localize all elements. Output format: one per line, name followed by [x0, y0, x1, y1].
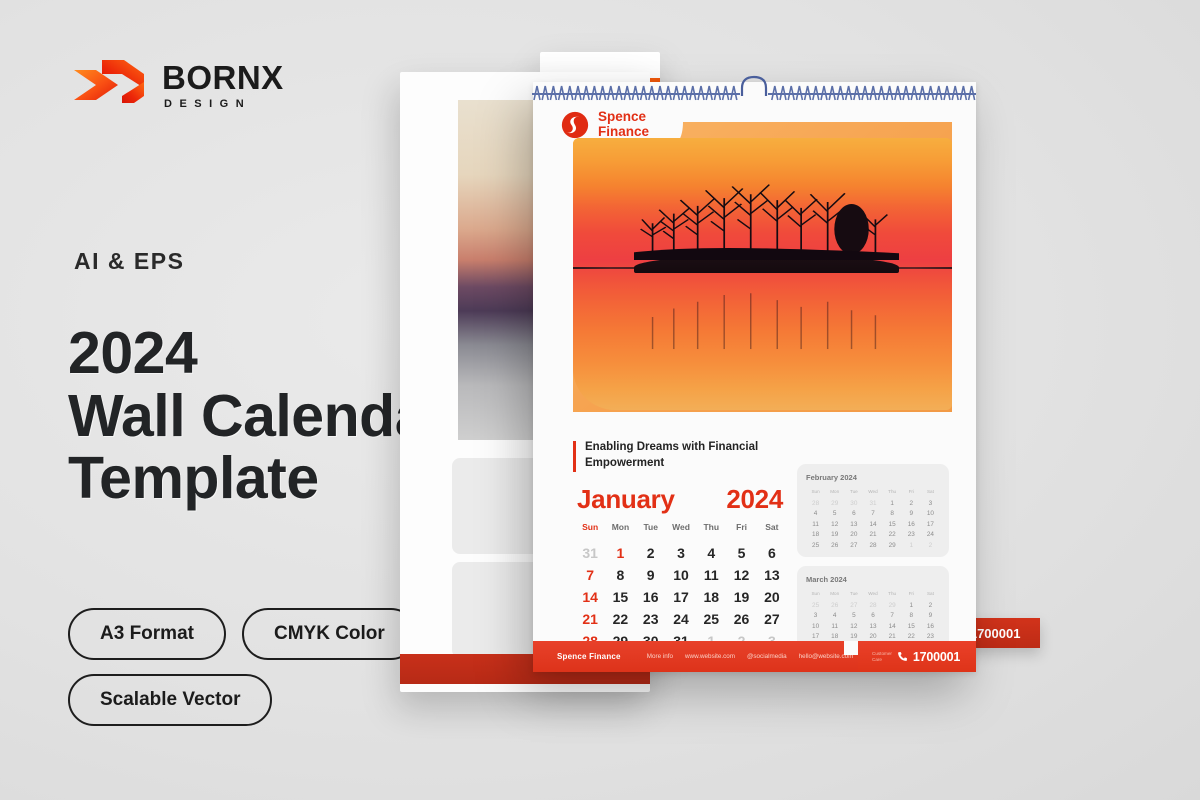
- mini-calendar-day: 4: [825, 612, 844, 619]
- mini-calendar-day: 4: [806, 510, 825, 517]
- mini-calendar-day: 2: [921, 602, 940, 609]
- mini-calendar-day: 20: [844, 531, 863, 538]
- mini-calendar-day: 21: [883, 633, 902, 640]
- mini-calendar-day: 31: [863, 500, 882, 507]
- calendar-day[interactable]: 25: [696, 611, 726, 627]
- mini-calendar-day: 23: [921, 633, 940, 640]
- calendar-day[interactable]: 2: [636, 545, 666, 561]
- phone-icon: [897, 651, 908, 662]
- mini-calendar-day: 23: [902, 531, 921, 538]
- headline-line-3: Template: [68, 447, 449, 510]
- mini-weekday-header: Thu: [883, 591, 902, 598]
- calendar-day[interactable]: 11: [696, 567, 726, 583]
- mini-calendar-day: 7: [863, 510, 882, 517]
- mini-calendar-day: 27: [844, 602, 863, 609]
- spence-logo-line-2: Finance: [598, 125, 649, 140]
- calendar-header-area: Spence Finance: [533, 82, 976, 430]
- mini-calendar-day: 1: [902, 542, 921, 549]
- mini-calendar-day: 28: [806, 500, 825, 507]
- mini-weekday-header: Wed: [863, 591, 882, 598]
- mini-calendar-day: 11: [806, 521, 825, 528]
- calendar-day[interactable]: 16: [636, 589, 666, 605]
- calendar-day[interactable]: 22: [605, 611, 635, 627]
- mini-calendar-day: 10: [921, 510, 940, 517]
- brand-subtitle: DESIGN: [162, 99, 284, 110]
- month-name: January: [577, 484, 675, 515]
- mini-calendar-day: 14: [883, 623, 902, 630]
- footer-phone-number: 1700001: [913, 650, 960, 664]
- calendar-day[interactable]: 26: [726, 611, 756, 627]
- calendar-day[interactable]: 9: [636, 567, 666, 583]
- footer-customer-care: Customer Care 1700001: [858, 641, 976, 672]
- calendar-day[interactable]: 8: [605, 567, 635, 583]
- mini-calendar-day: 13: [863, 623, 882, 630]
- mini-calendar-day: 26: [825, 542, 844, 549]
- mini-calendar-day: 9: [902, 510, 921, 517]
- footer-more-info[interactable]: More info: [647, 653, 673, 660]
- mini-weekday-header: Tue: [844, 489, 863, 496]
- calendar-day[interactable]: 23: [636, 611, 666, 627]
- spence-circle-logo: [561, 111, 589, 139]
- mini-calendar-day: 9: [921, 612, 940, 619]
- mini-grid-february: SunMonTueWedThuFriSat2829303112345678910…: [806, 489, 940, 549]
- calendar-day[interactable]: 31: [575, 545, 605, 561]
- mini-calendar-day: 6: [863, 612, 882, 619]
- mini-calendar-day: 15: [902, 623, 921, 630]
- mini-title-february: February 2024: [806, 473, 940, 482]
- tagline-text: Enabling Dreams with Financial Empowerme…: [585, 440, 775, 471]
- calendar-day[interactable]: 19: [726, 589, 756, 605]
- badge-scalable-vector[interactable]: Scalable Vector: [68, 674, 272, 726]
- calendar-day[interactable]: 12: [726, 567, 756, 583]
- mini-calendar-day: 7: [883, 612, 902, 619]
- headline-line-2: Wall Calendar: [68, 385, 449, 448]
- calendar-day[interactable]: 27: [757, 611, 787, 627]
- mini-calendar-day: 30: [844, 500, 863, 507]
- weekday-header-sun: Sun: [575, 522, 605, 539]
- mini-calendar-day: 8: [902, 612, 921, 619]
- mini-calendar-day: 16: [902, 521, 921, 528]
- mini-calendar-day: 3: [921, 500, 940, 507]
- mini-calendar-day: 18: [825, 633, 844, 640]
- mini-calendar-day: 22: [883, 531, 902, 538]
- mini-weekday-header: Sat: [921, 489, 940, 496]
- footer-social[interactable]: @socialmedia: [747, 653, 787, 660]
- weekday-header-sat: Sat: [757, 522, 787, 539]
- secondary-footer-phone: 1700001: [970, 626, 1021, 641]
- mini-calendar-day: 25: [806, 602, 825, 609]
- weekday-header-thu: Thu: [696, 522, 726, 539]
- mini-calendar-day: 16: [921, 623, 940, 630]
- mini-title-march: March 2024: [806, 575, 940, 584]
- mini-weekday-header: Mon: [825, 591, 844, 598]
- calendar-day[interactable]: 5: [726, 545, 756, 561]
- tagline-block: Enabling Dreams with Financial Empowerme…: [573, 440, 775, 472]
- calendar-day[interactable]: 4: [696, 545, 726, 561]
- calendar-day[interactable]: 20: [757, 589, 787, 605]
- mini-calendar-day: 5: [825, 510, 844, 517]
- mini-calendar-day: 12: [844, 623, 863, 630]
- mini-calendar-day: 18: [806, 531, 825, 538]
- mini-calendar-day: 6: [844, 510, 863, 517]
- mini-calendar-day: 1: [883, 500, 902, 507]
- sunset-lake-photo: [573, 138, 952, 410]
- mini-calendar-day: 24: [921, 531, 940, 538]
- page-title: 2024 Wall Calendar Template: [68, 322, 449, 510]
- tagline-accent-bar: [573, 441, 576, 472]
- mini-calendar-day: 19: [825, 531, 844, 538]
- mini-calendar-day: 29: [883, 602, 902, 609]
- mini-calendar-day: 10: [806, 623, 825, 630]
- format-eyebrow: AI & EPS: [74, 248, 184, 275]
- photo-reflection: [634, 273, 899, 349]
- calendar-day[interactable]: 6: [757, 545, 787, 561]
- footer-brand: Spence Finance: [557, 652, 621, 661]
- weekday-header-tue: Tue: [636, 522, 666, 539]
- mini-calendar-day: 29: [825, 500, 844, 507]
- january-calendar-grid[interactable]: SunMonTueWedThuFriSat3112345678910111213…: [575, 522, 787, 649]
- mini-calendar-day: 17: [921, 521, 940, 528]
- mini-calendar-day: 29: [883, 542, 902, 549]
- mini-calendar-day: 22: [902, 633, 921, 640]
- mini-calendar-day: 3: [806, 612, 825, 619]
- calendar-day[interactable]: 17: [666, 589, 696, 605]
- mini-calendar-day: 26: [825, 602, 844, 609]
- mini-calendar-day: 15: [883, 521, 902, 528]
- calendar-day[interactable]: 14: [575, 589, 605, 605]
- spence-finance-logo: Spence Finance: [561, 110, 649, 139]
- calendar-day[interactable]: 3: [666, 545, 696, 561]
- calendar-footer-bar: Spence Finance More info www.website.com…: [533, 641, 976, 672]
- mini-weekday-header: Sun: [806, 489, 825, 496]
- mini-calendar-day: 11: [825, 623, 844, 630]
- mini-weekday-header: Fri: [902, 591, 921, 598]
- photo-tree-silhouettes: [634, 173, 899, 260]
- calendar-page-front[interactable]: Spence Finance: [533, 82, 976, 672]
- mini-calendar-day: 17: [806, 633, 825, 640]
- mini-calendar-day: 28: [863, 542, 882, 549]
- badge-a3-format[interactable]: A3 Format: [68, 608, 226, 660]
- badge-cmyk-color[interactable]: CMYK Color: [242, 608, 417, 660]
- mini-calendar-day: 1: [902, 602, 921, 609]
- mini-calendar-day: 21: [863, 531, 882, 538]
- weekday-header-fri: Fri: [726, 522, 756, 539]
- mini-weekday-header: Fri: [902, 489, 921, 496]
- weekday-header-wed: Wed: [666, 522, 696, 539]
- care-line-1: Customer: [872, 651, 892, 657]
- headline-line-1: 2024: [68, 322, 449, 385]
- mini-calendar-day: 12: [825, 521, 844, 528]
- mini-weekday-header: Sun: [806, 591, 825, 598]
- mini-calendar-day: 13: [844, 521, 863, 528]
- mini-weekday-header: Mon: [825, 489, 844, 496]
- mini-calendar-day: 2: [921, 542, 940, 549]
- mini-calendar-day: 5: [844, 612, 863, 619]
- calendar-day[interactable]: 15: [605, 589, 635, 605]
- calendar-day[interactable]: 24: [666, 611, 696, 627]
- hanging-loop: [742, 77, 766, 96]
- mini-calendar-february[interactable]: February 2024 SunMonTueWedThuFriSat28293…: [797, 464, 949, 557]
- footer-website[interactable]: www.website.com: [685, 653, 735, 660]
- poster-canvas: BORNX DESIGN AI & EPS 2024 Wall Calendar…: [0, 0, 1200, 800]
- mini-calendar-day: 27: [844, 542, 863, 549]
- mini-calendar-day: 25: [806, 542, 825, 549]
- mini-calendar-day: 2: [902, 500, 921, 507]
- mini-calendar-day: 20: [863, 633, 882, 640]
- bornx-chevron-logo: [72, 58, 146, 112]
- calendar-day[interactable]: 10: [666, 567, 696, 583]
- mini-weekday-header: Sat: [921, 591, 940, 598]
- care-line-2: Care: [872, 657, 892, 663]
- calendar-day[interactable]: 7: [575, 567, 605, 583]
- calendar-day[interactable]: 18: [696, 589, 726, 605]
- month-year: 2024: [726, 484, 783, 515]
- footer-notch: [844, 641, 858, 655]
- brand-name: BORNX: [162, 61, 284, 94]
- mini-calendar-day: 14: [863, 521, 882, 528]
- spence-logo-line-1: Spence: [598, 110, 649, 125]
- mini-weekday-header: Tue: [844, 591, 863, 598]
- weekday-header-mon: Mon: [605, 522, 635, 539]
- mini-calendar-day: 19: [844, 633, 863, 640]
- calendar-day[interactable]: 13: [757, 567, 787, 583]
- spiral-binding: [528, 74, 980, 108]
- mini-calendar-day: 28: [863, 602, 882, 609]
- calendar-day[interactable]: 1: [605, 545, 635, 561]
- bornx-brand-logo: BORNX DESIGN: [72, 58, 284, 112]
- mini-weekday-header: Wed: [863, 489, 882, 496]
- mini-weekday-header: Thu: [883, 489, 902, 496]
- mini-calendar-day: 8: [883, 510, 902, 517]
- calendar-day[interactable]: 21: [575, 611, 605, 627]
- month-title-row: January 2024: [577, 484, 783, 515]
